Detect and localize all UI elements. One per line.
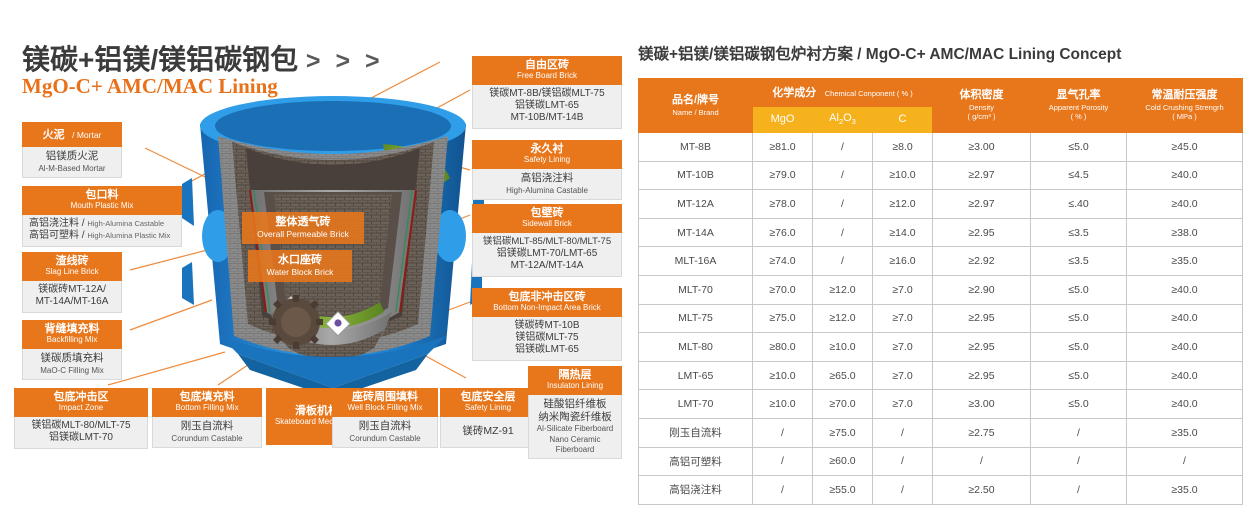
cell-mgo: ≥75.0 — [753, 304, 813, 333]
label-header-cn: 包口料 — [26, 189, 178, 201]
label-body-line2: 铝镁碳LMT-70 — [19, 432, 143, 444]
label-body: 镁铝碳MLT-85/MLT-80/MLT-75 铝镁碳LMT-70/LMT-65… — [472, 233, 622, 276]
label-header: 包壁砖 Sidewall Brick — [472, 204, 622, 233]
th-mgo: MgO — [753, 106, 813, 132]
cell-ccs: ≥40.0 — [1127, 275, 1243, 304]
cell-al2o3: ≥75.0 — [813, 418, 873, 447]
th-chem-en: Chemical Conponent ( % ) — [825, 89, 913, 98]
th-porosity-en: Apparent Porosity — [1033, 103, 1124, 113]
label-box-impact-zone: 包底冲击区 Impact Zone 镁铝碳MLT-80/MLT-75 铝镁碳LM… — [14, 388, 148, 449]
label-body-cn: 镁碳质填充料 — [27, 352, 117, 365]
label-body-line3: 铝镁碳LMT-65 — [477, 344, 617, 356]
label-header-en: Backfilling Mix — [26, 336, 118, 345]
label-body-line1-en: Al-Silicate Fiberboard — [533, 424, 617, 434]
label-body-en: MaO-C Filling Mix — [27, 366, 117, 376]
cell-ccs: ≥40.0 — [1127, 190, 1243, 219]
table-row: MT-12A≥78.0/≥12.0≥2.97≤.40≥40.0 — [639, 190, 1243, 219]
cell-name: 刚玉自流料 — [639, 418, 753, 447]
cell-carbon: ≥16.0 — [873, 247, 933, 276]
label-body-line1-cn: 硅酸铝纤维板 — [533, 398, 617, 411]
label-header-en: Well Block Filling Mix — [336, 404, 434, 413]
cell-mgo: ≥10.0 — [753, 390, 813, 419]
cell-density: ≥2.92 — [933, 247, 1031, 276]
label-body: 镁碳质填充料 MaO-C Filling Mix — [22, 349, 122, 380]
label-box-mouth-plastic-mix: 包口料 Mouth Plastic Mix 高铝浇注料 / High-Alumi… — [22, 186, 182, 247]
label-header-en: Insulaton Lining — [532, 382, 618, 391]
label-body: 镁碳砖MT-12A/ MT-14A/MT-16A — [22, 281, 122, 313]
cell-name: 高铝可塑料 — [639, 447, 753, 476]
cell-carbon: ≥7.0 — [873, 275, 933, 304]
cell-carbon: ≥7.0 — [873, 333, 933, 362]
label-body-line1: 镁铝碳MLT-80/MLT-75 — [19, 420, 143, 432]
cell-name: MLT-70 — [639, 275, 753, 304]
table-wrapper: 品名/牌号 Name / Brand 化学成分 Chemical Conpone… — [638, 78, 1242, 505]
label-header-en: Free Board Brick — [476, 72, 618, 81]
cell-ccs: ≥40.0 — [1127, 161, 1243, 190]
cell-porosity: ≤5.0 — [1031, 275, 1127, 304]
cell-ccs: ≥40.0 — [1127, 304, 1243, 333]
table-row: MLT-75≥75.0≥12.0≥7.0≥2.95≤5.0≥40.0 — [639, 304, 1243, 333]
overlay-label-cn: 水口座砖 — [254, 254, 346, 267]
table-row: 高铝可塑料/≥60.0//// — [639, 447, 1243, 476]
label-body-line1: 高铝浇注料 / High-Alumina Castable — [29, 218, 177, 230]
label-body-line2: MT-14A/MT-16A — [27, 296, 117, 308]
cell-al2o3: ≥10.0 — [813, 333, 873, 362]
label-body-cn: 刚玉自流料 — [157, 420, 257, 433]
label-box-bottom-non-impact-area-brick: 包底非冲击区砖 Bottom Non-Impact Area Brick 镁碳砖… — [472, 288, 622, 361]
table-row: MT-8B≥81.0/≥8.0≥3.00≤5.0≥45.0 — [639, 133, 1243, 162]
label-body: 高铝浇注料 High-Alumina Castable — [472, 169, 622, 200]
label-header-cn: 永久衬 — [476, 143, 618, 155]
label-box-free-board-brick: 自由区砖 Free Board Brick 镁碳MT-8B/镁铝碳MLT-75 … — [472, 56, 622, 129]
cell-mgo: ≥79.0 — [753, 161, 813, 190]
cell-carbon: ≥7.0 — [873, 304, 933, 333]
label-body: 镁碳砖MT-10B 镁铝碳MLT-75 铝镁碳LMT-65 — [472, 317, 622, 361]
cell-ccs: ≥35.0 — [1127, 247, 1243, 276]
label-header: 背缝填充料 Backfilling Mix — [22, 320, 122, 349]
label-body-line2-en: Nano Ceramic Fiberboard — [533, 435, 617, 454]
label-header-en: Slag Line Brick — [26, 268, 118, 277]
cell-mgo: ≥10.0 — [753, 361, 813, 390]
cell-porosity: ≤5.0 — [1031, 333, 1127, 362]
th-chemical-component: 化学成分 Chemical Conponent ( % ) — [753, 79, 933, 107]
overlay-label-cn: 整体透气砖 — [248, 216, 358, 229]
label-body: 镁铝碳MLT-80/MLT-75 铝镁碳LMT-70 — [14, 417, 148, 449]
overlay-label-en: Overall Permeable Brick — [248, 230, 358, 240]
label-body-line2-cn: 纳米陶瓷纤维板 — [533, 411, 617, 424]
label-box-insulation-lining: 隔热层 Insulaton Lining 硅酸铝纤维板 纳米陶瓷纤维板 Al-S… — [528, 366, 622, 459]
cell-density: ≥2.95 — [933, 333, 1031, 362]
cell-porosity: ≤.40 — [1031, 190, 1127, 219]
table-title: 镁碳+铝镁/镁铝碳钢包炉衬方案 / MgO-C+ AMC/MAC Lining … — [638, 42, 1121, 64]
cell-density: ≥2.95 — [933, 218, 1031, 247]
label-body-en: Corundum Castable — [157, 434, 257, 444]
table-row: MLT-16A≥74.0/≥16.0≥2.92≤3.5≥35.0 — [639, 247, 1243, 276]
cell-carbon: ≥12.0 — [873, 190, 933, 219]
label-body-cn: 刚玉自流料 — [337, 420, 433, 433]
table-header-row-1: 品名/牌号 Name / Brand 化学成分 Chemical Conpone… — [639, 79, 1243, 107]
cell-al2o3: ≥60.0 — [813, 447, 873, 476]
label-header-cn: 隔热层 — [532, 369, 618, 381]
label-body-line3: MT-12A/MT-14A — [477, 260, 617, 272]
th-ccs-cn: 常温耐压强度 — [1129, 89, 1240, 103]
cell-ccs: ≥35.0 — [1127, 418, 1243, 447]
cell-density: ≥2.95 — [933, 304, 1031, 333]
cell-name: MT-12A — [639, 190, 753, 219]
th-name-brand-en: Name / Brand — [641, 108, 750, 118]
cell-al2o3: ≥70.0 — [813, 390, 873, 419]
diagram-title-cn: 镁碳+铝镁/镁铝碳钢包 > > > — [22, 38, 384, 78]
cell-density: ≥2.95 — [933, 361, 1031, 390]
cell-porosity: ≤3.5 — [1031, 218, 1127, 247]
cell-density: ≥3.00 — [933, 390, 1031, 419]
label-header-en: Bottom Non-Impact Area Brick — [476, 304, 618, 313]
label-header: 包底非冲击区砖 Bottom Non-Impact Area Brick — [472, 288, 622, 317]
label-header: 座砖周围填料 Well Block Filling Mix — [332, 388, 438, 417]
label-body-cn: 高铝浇注料 — [477, 172, 617, 185]
cell-mgo: / — [753, 418, 813, 447]
label-header-en: Sidewall Brick — [476, 220, 618, 229]
cell-porosity: / — [1031, 418, 1127, 447]
label-body-line1: 镁铝碳MLT-85/MLT-80/MLT-75 — [477, 236, 617, 247]
label-body: 镁砖MZ-91 — [440, 417, 536, 448]
cell-carbon: ≥10.0 — [873, 161, 933, 190]
label-box-slag-line-brick: 渣线砖 Slag Line Brick 镁碳砖MT-12A/ MT-14A/MT… — [22, 252, 122, 313]
cell-ccs: / — [1127, 447, 1243, 476]
label-header-en: Impact Zone — [18, 404, 144, 413]
label-header-cn: 包底安全层 — [444, 391, 532, 403]
cell-porosity: ≤5.0 — [1031, 390, 1127, 419]
cell-ccs: ≥45.0 — [1127, 133, 1243, 162]
cell-density: ≥2.97 — [933, 190, 1031, 219]
cell-density: ≥2.75 — [933, 418, 1031, 447]
th-ccs-en: Cold Crushing Strengrh — [1129, 103, 1240, 113]
label-header-cn: 包壁砖 — [476, 207, 618, 219]
th-name-brand-cn: 品名/牌号 — [641, 94, 750, 108]
label-header: 包口料 Mouth Plastic Mix — [22, 186, 182, 215]
th-chem-cn: 化学成分 — [772, 87, 816, 99]
lining-diagram-panel: 镁碳+铝镁/镁铝碳钢包 > > > MgO-C+ AMC/MAC Lining — [0, 0, 630, 500]
label-header-en: Bottom Filling Mix — [156, 404, 258, 413]
cell-al2o3: / — [813, 247, 873, 276]
cell-porosity: / — [1031, 447, 1127, 476]
label-body-en: Al-M-Based Mortar — [27, 164, 117, 174]
cell-carbon: ≥7.0 — [873, 390, 933, 419]
table-row: LMT-65≥10.0≥65.0≥7.0≥2.95≤5.0≥40.0 — [639, 361, 1243, 390]
label-header-en: Mouth Plastic Mix — [26, 202, 178, 211]
cell-al2o3: ≥12.0 — [813, 275, 873, 304]
overlay-label-overall-permeable-brick: 整体透气砖 Overall Permeable Brick — [242, 212, 364, 244]
cell-name: MT-10B — [639, 161, 753, 190]
overlay-label-en: Water Block Brick — [254, 268, 346, 278]
cell-al2o3: / — [813, 190, 873, 219]
label-header-en: Safety Lining — [476, 156, 618, 165]
cell-carbon: ≥14.0 — [873, 218, 933, 247]
label-header-cn: 包底填充料 — [156, 391, 258, 403]
label-header-cn: 渣线砖 — [26, 255, 118, 267]
table-row: MT-10B≥79.0/≥10.0≥2.97≤4.5≥40.0 — [639, 161, 1243, 190]
label-box-backfilling-mix: 背缝填充料 Backfilling Mix 镁碳质填充料 MaO-C Filli… — [22, 320, 122, 380]
label-body-cn: 镁砖MZ-91 — [445, 425, 531, 438]
specification-table-panel: 镁碳+铝镁/镁铝碳钢包炉衬方案 / MgO-C+ AMC/MAC Lining … — [630, 0, 1250, 500]
label-body-cn: 铝镁质火泥 — [27, 150, 117, 163]
cell-porosity: ≤5.0 — [1031, 361, 1127, 390]
th-density-en: Density — [935, 103, 1028, 113]
label-body-line1: 镁碳MT-8B/镁铝碳MLT-75 — [477, 88, 617, 100]
cell-carbon: ≥7.0 — [873, 361, 933, 390]
cell-porosity: ≤3.5 — [1031, 247, 1127, 276]
label-header-cn: 包底冲击区 — [18, 391, 144, 403]
cell-mgo: ≥81.0 — [753, 133, 813, 162]
cell-density: ≥2.90 — [933, 275, 1031, 304]
chevron-arrows-icon: > > > — [306, 47, 384, 75]
cell-mgo: ≥70.0 — [753, 275, 813, 304]
label-box-well-block-filling-mix: 座砖周围填料 Well Block Filling Mix 刚玉自流料 Coru… — [332, 388, 438, 448]
cell-mgo: ≥76.0 — [753, 218, 813, 247]
label-body-line2: 镁铝碳MLT-75 — [477, 332, 617, 344]
cell-al2o3: / — [813, 161, 873, 190]
cell-name: MT-8B — [639, 133, 753, 162]
cell-ccs: ≥40.0 — [1127, 333, 1243, 362]
cell-name: MT-14A — [639, 218, 753, 247]
label-body-line1: 镁碳砖MT-10B — [477, 320, 617, 332]
th-name-brand: 品名/牌号 Name / Brand — [639, 79, 753, 133]
table-body: MT-8B≥81.0/≥8.0≥3.00≤5.0≥45.0MT-10B≥79.0… — [639, 133, 1243, 505]
cell-name: LMT-70 — [639, 390, 753, 419]
th-density-unit: ( g/cm³ ) — [935, 112, 1028, 122]
cell-ccs: ≥40.0 — [1127, 390, 1243, 419]
label-header-en: Safety Lining — [444, 404, 532, 413]
table-row: LMT-70≥10.0≥70.0≥7.0≥3.00≤5.0≥40.0 — [639, 390, 1243, 419]
overlay-label-water-block-brick: 水口座砖 Water Block Brick — [248, 250, 352, 282]
table-row: MLT-80≥80.0≥10.0≥7.0≥2.95≤5.0≥40.0 — [639, 333, 1243, 362]
label-body-line2: 高铝可塑料 / High-Alumina Plastic Mix — [29, 230, 177, 242]
cell-ccs: ≥38.0 — [1127, 218, 1243, 247]
cell-ccs: ≥40.0 — [1127, 361, 1243, 390]
cell-al2o3: ≥65.0 — [813, 361, 873, 390]
label-box-bottom-filling-mix: 包底填充料 Bottom Filling Mix 刚玉自流料 Corundum … — [152, 388, 262, 448]
label-header: 自由区砖 Free Board Brick — [472, 56, 622, 85]
cell-mgo: / — [753, 447, 813, 476]
label-body-line2: 铝镁碳LMT-65 — [477, 100, 617, 112]
table-row: 刚玉自流料/≥75.0/≥2.75/≥35.0 — [639, 418, 1243, 447]
label-header: 包底冲击区 Impact Zone — [14, 388, 148, 417]
label-body-line3: MT-10B/MT-14B — [477, 112, 617, 124]
label-header-cn: 包底非冲击区砖 — [476, 291, 618, 303]
th-ccs-unit: ( MPa ) — [1129, 112, 1240, 122]
label-header: 永久衬 Safety Lining — [472, 140, 622, 169]
th-density-cn: 体积密度 — [935, 89, 1028, 103]
label-body-en: High-Alumina Castable — [477, 186, 617, 196]
th-al2o3: Al2O3 — [813, 106, 873, 132]
th-porosity-cn: 显气孔率 — [1033, 89, 1124, 103]
cell-mgo: ≥80.0 — [753, 333, 813, 362]
label-box-sidewall-brick: 包壁砖 Sidewall Brick 镁铝碳MLT-85/MLT-80/MLT-… — [472, 204, 622, 277]
cell-name: MLT-80 — [639, 333, 753, 362]
cell-porosity: ≤5.0 — [1031, 304, 1127, 333]
cell-name: LMT-65 — [639, 361, 753, 390]
label-header-cn: 自由区砖 — [476, 59, 618, 71]
diagram-title-cn-text: 镁碳+铝镁/镁铝碳钢包 — [22, 44, 298, 75]
table-row: MT-14A≥76.0/≥14.0≥2.95≤3.5≥38.0 — [639, 218, 1243, 247]
label-header-cn: 火泥 — [43, 129, 65, 141]
label-body-line2: 铝镁碳LMT-70/LMT-65 — [477, 248, 617, 260]
cell-mgo: ≥74.0 — [753, 247, 813, 276]
label-header-en: / Mortar — [72, 130, 101, 140]
label-body: 硅酸铝纤维板 纳米陶瓷纤维板 Al-Silicate Fiberboard Na… — [528, 395, 622, 459]
cell-al2o3: / — [813, 133, 873, 162]
label-header: 火泥 / Mortar — [22, 122, 122, 147]
label-body-line1: 镁碳砖MT-12A/ — [27, 284, 117, 296]
label-box-safety-lining: 永久衬 Safety Lining 高铝浇注料 High-Alumina Cas… — [472, 140, 622, 200]
table-head: 品名/牌号 Name / Brand 化学成分 Chemical Conpone… — [639, 79, 1243, 133]
th-porosity-unit: ( % ) — [1033, 112, 1124, 122]
cell-mgo: ≥78.0 — [753, 190, 813, 219]
th-apparent-porosity: 显气孔率 Apparent Porosity ( % ) — [1031, 79, 1127, 133]
cell-porosity: ≤5.0 — [1031, 133, 1127, 162]
label-body: 刚玉自流料 Corundum Castable — [332, 417, 438, 448]
cell-al2o3: ≥12.0 — [813, 304, 873, 333]
label-header: 包底安全层 Safety Lining — [440, 388, 536, 417]
cell-carbon: ≥8.0 — [873, 133, 933, 162]
label-box-mortar: 火泥 / Mortar 铝镁质火泥 Al-M-Based Mortar — [22, 122, 122, 178]
cell-al2o3: / — [813, 218, 873, 247]
cell-porosity: ≤4.5 — [1031, 161, 1127, 190]
label-header: 渣线砖 Slag Line Brick — [22, 252, 122, 281]
cell-density: ≥2.97 — [933, 161, 1031, 190]
label-body: 高铝浇注料 / High-Alumina Castable 高铝可塑料 / Hi… — [22, 215, 182, 247]
cell-name: MLT-75 — [639, 304, 753, 333]
cell-carbon: / — [873, 418, 933, 447]
th-carbon: C — [873, 106, 933, 132]
th-density: 体积密度 Density ( g/cm³ ) — [933, 79, 1031, 133]
label-body-en: Corundum Castable — [337, 434, 433, 444]
cell-density: ≥3.00 — [933, 133, 1031, 162]
label-header: 隔热层 Insulaton Lining — [528, 366, 622, 395]
cell-density: / — [933, 447, 1031, 476]
label-body: 铝镁质火泥 Al-M-Based Mortar — [22, 147, 122, 178]
label-header-cn: 背缝填充料 — [26, 323, 118, 335]
cell-name: MLT-16A — [639, 247, 753, 276]
label-body: 刚玉自流料 Corundum Castable — [152, 417, 262, 448]
label-box-bottom-safety-lining: 包底安全层 Safety Lining 镁砖MZ-91 — [440, 388, 536, 448]
label-header-cn: 座砖周围填料 — [336, 391, 434, 403]
cell-carbon: / — [873, 447, 933, 476]
label-body: 镁碳MT-8B/镁铝碳MLT-75 铝镁碳LMT-65 MT-10B/MT-14… — [472, 85, 622, 129]
th-cold-crushing-strength: 常温耐压强度 Cold Crushing Strengrh ( MPa ) — [1127, 79, 1243, 133]
label-header: 包底填充料 Bottom Filling Mix — [152, 388, 262, 417]
specification-table: 品名/牌号 Name / Brand 化学成分 Chemical Conpone… — [638, 78, 1243, 505]
table-row: MLT-70≥70.0≥12.0≥7.0≥2.90≤5.0≥40.0 — [639, 275, 1243, 304]
